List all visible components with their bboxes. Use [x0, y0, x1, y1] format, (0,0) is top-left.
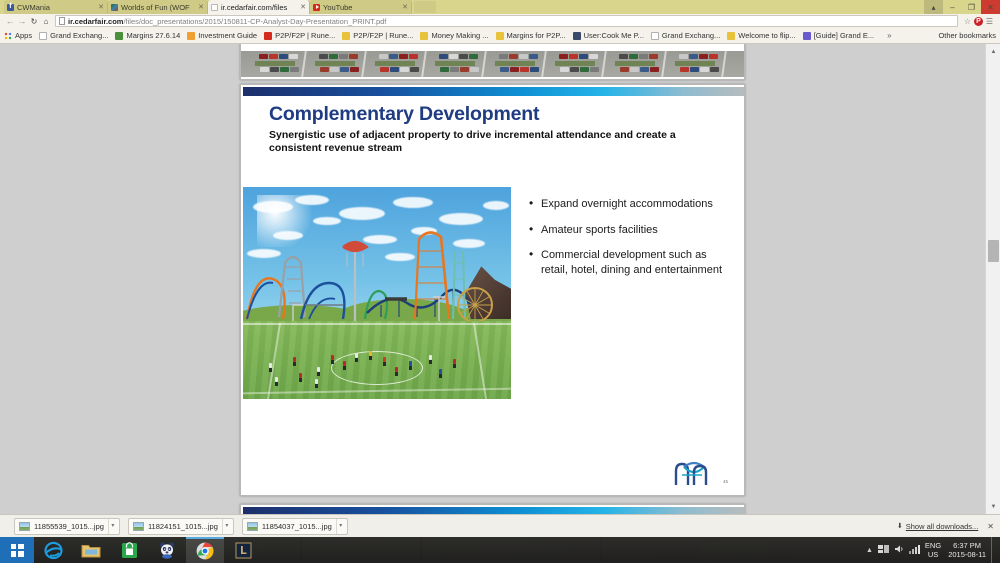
- close-downloads-bar-icon[interactable]: ✕: [987, 522, 994, 531]
- yellow-smiley-icon: [342, 32, 350, 40]
- bookmark-label: Money Making ...: [431, 31, 488, 40]
- bookmark-grand-exchange-2[interactable]: Grand Exchang...: [651, 31, 720, 40]
- yellow-smiley-icon: [727, 32, 735, 40]
- close-button[interactable]: ✕: [981, 0, 1000, 14]
- tray-expand-icon[interactable]: ▲: [866, 547, 873, 554]
- vertical-scrollbar[interactable]: ▲ ▼: [985, 44, 1000, 514]
- pdf-current-page: Complementary Development Synergistic us…: [240, 84, 745, 496]
- downloads-bar: 11855539_1015...jpg ▾ 11824151_1015...jp…: [0, 514, 1000, 537]
- other-bookmarks-button[interactable]: Other bookmarks: [938, 31, 996, 40]
- bookmark-investment-guide[interactable]: Investment Guide: [187, 31, 257, 40]
- bookmark-welcome-to-flip[interactable]: Welcome to flip...: [727, 31, 795, 40]
- tab-close-icon[interactable]: ✕: [300, 3, 306, 11]
- dark-badge-icon: [573, 32, 581, 40]
- reload-icon[interactable]: ↻: [28, 17, 40, 26]
- bookmark-label: [Guide] Grand E...: [814, 31, 874, 40]
- chrome-browser-window: CWMania ✕ Worlds of Fun (WOF ✕ ir.cedarf…: [0, 0, 1000, 537]
- tab-youtube[interactable]: YouTube ✕: [310, 0, 412, 14]
- bookmark-apps[interactable]: Apps: [4, 31, 32, 40]
- pdf-previous-page: [240, 44, 745, 80]
- clock[interactable]: 6:37 PM 2015-08-11: [948, 541, 986, 559]
- download-filename: 11854037_1015...jpg: [262, 522, 332, 531]
- list-item: Amateur sports facilities: [527, 223, 732, 238]
- chevron-down-icon[interactable]: ▾: [108, 519, 117, 534]
- tab-strip: CWMania ✕ Worlds of Fun (WOF ✕ ir.cedarf…: [0, 0, 1000, 14]
- language-line-1: ENG: [925, 541, 941, 550]
- purple-pen-icon: [803, 32, 811, 40]
- hamburger-menu-icon[interactable]: ☰: [983, 17, 996, 26]
- bookmarks-bar: Apps Grand Exchang... Margins 27.6.14 In…: [0, 28, 1000, 44]
- page-icon: [59, 17, 65, 25]
- downloads-bar-actions: ⬇ Show all downloads... ✕: [897, 522, 994, 531]
- bookmark-grand-exchange-1[interactable]: Grand Exchang...: [39, 31, 108, 40]
- bookmark-label: Margins 27.6.14: [126, 31, 180, 40]
- tab-close-icon[interactable]: ✕: [198, 3, 204, 11]
- show-all-downloads-link[interactable]: Show all downloads...: [906, 522, 979, 531]
- green-note-icon: [115, 32, 123, 40]
- forward-arrow-icon[interactable]: →: [16, 16, 28, 26]
- league-of-legends-icon[interactable]: [224, 537, 262, 563]
- tab-close-icon[interactable]: ✕: [98, 3, 104, 11]
- amusement-park-rendering-image: [243, 187, 511, 399]
- window-controls: ▴ – ❐ ✕: [924, 0, 1000, 14]
- image-thumbnail-icon: [19, 522, 30, 531]
- clock-date: 2015-08-11: [948, 550, 986, 559]
- download-filename: 11855539_1015...jpg: [34, 522, 104, 531]
- download-item[interactable]: 11854037_1015...jpg ▾: [242, 518, 348, 535]
- scroll-up-icon[interactable]: ▲: [986, 44, 1000, 59]
- aerial-parking-lot-photo: [241, 51, 744, 77]
- pdf-viewer[interactable]: Complementary Development Synergistic us…: [0, 44, 1000, 514]
- store-icon[interactable]: [110, 537, 148, 563]
- bookmark-label: Margins for P2P...: [507, 31, 566, 40]
- image-thumbnail-icon: [247, 522, 258, 531]
- bookmark-money-making[interactable]: Money Making ...: [420, 31, 488, 40]
- tab-close-icon[interactable]: ✕: [402, 3, 408, 11]
- file-explorer-icon[interactable]: [72, 537, 110, 563]
- system-tray: ▲ ENG US 6:37 PM 2015-08-11: [866, 537, 996, 563]
- start-button[interactable]: [0, 537, 34, 563]
- bookmark-label: Welcome to flip...: [738, 31, 795, 40]
- bookmark-label: P2P/F2P | Rune...: [353, 31, 413, 40]
- bookmark-label: Grand Exchang...: [50, 31, 108, 40]
- other-bookmarks-label: Other bookmarks: [938, 31, 996, 40]
- list-item: Commercial development such as retail, h…: [527, 248, 732, 277]
- panda-app-icon[interactable]: [148, 537, 186, 563]
- tab-cwmania[interactable]: CWMania ✕: [4, 0, 108, 14]
- windows-logo-icon: [11, 544, 24, 557]
- page-title: Complementary Development: [269, 103, 539, 126]
- home-icon[interactable]: ⌂: [40, 17, 52, 26]
- internet-explorer-icon[interactable]: [34, 537, 72, 563]
- language-line-2: US: [928, 550, 938, 559]
- bookmark-label: Investment Guide: [198, 31, 257, 40]
- minimize-button[interactable]: –: [943, 0, 962, 14]
- bookmark-label: User:Cook Me P...: [584, 31, 644, 40]
- new-tab-button[interactable]: [414, 1, 436, 13]
- yellow-smiley-icon: [496, 32, 504, 40]
- chevron-down-icon[interactable]: ▾: [222, 519, 231, 534]
- volume-icon[interactable]: [894, 544, 904, 556]
- apps-grid-icon: [4, 32, 12, 40]
- star-icon[interactable]: ☆: [961, 17, 974, 26]
- bookmark-p2p-f2p-1[interactable]: P2P/F2P | Rune...: [264, 31, 335, 40]
- signal-icon[interactable]: [909, 544, 920, 556]
- slide-subtitle: Synergistic use of adjacent property to …: [269, 129, 689, 155]
- tab-cedarfair-pdf[interactable]: ir.cedarfair.com/files ✕: [208, 0, 310, 14]
- orange-smiley-icon: [187, 32, 195, 40]
- tab-worlds-of-fun[interactable]: Worlds of Fun (WOF ✕: [108, 0, 208, 14]
- worlds-of-fun-icon: [111, 4, 118, 11]
- page-icon: [39, 32, 47, 40]
- url-text: ir.cedarfair.com/files/doc_presentations…: [68, 17, 386, 26]
- language-indicator[interactable]: ENG US: [925, 541, 941, 559]
- address-bar[interactable]: ir.cedarfair.com/files/doc_presentations…: [55, 15, 958, 27]
- facebook-icon: [7, 4, 14, 11]
- bookmark-label: P2P/F2P | Rune...: [275, 31, 335, 40]
- scroll-down-icon[interactable]: ▼: [986, 499, 1000, 514]
- pinterest-icon[interactable]: P: [974, 17, 983, 26]
- tab-label: YouTube: [323, 3, 399, 12]
- tab-label: CWMania: [17, 3, 95, 12]
- red-square-icon: [264, 32, 272, 40]
- navigation-toolbar: ← → ↻ ⌂ ir.cedarfair.com/files/doc_prese…: [0, 14, 1000, 28]
- bookmark-margins-27614[interactable]: Margins 27.6.14: [115, 31, 180, 40]
- bookmark-label: Grand Exchang...: [662, 31, 720, 40]
- bookmark-margins-for-p2p[interactable]: Margins for P2P...: [496, 31, 566, 40]
- slide-header-gradient-bar: [243, 507, 744, 514]
- bookmarks-overflow-button[interactable]: »: [887, 31, 891, 40]
- tab-label: ir.cedarfair.com/files: [221, 3, 297, 12]
- yellow-smiley-icon: [420, 32, 428, 40]
- youtube-icon: [313, 4, 320, 11]
- user-profile-button[interactable]: ▴: [924, 0, 943, 14]
- scrollbar-thumb[interactable]: [988, 240, 999, 262]
- bookmark-p2p-f2p-2[interactable]: P2P/F2P | Rune...: [342, 31, 413, 40]
- list-item: Expand overnight accommodations: [527, 197, 732, 212]
- clock-time: 6:37 PM: [953, 541, 981, 550]
- bookmark-user-cook-me-p[interactable]: User:Cook Me P...: [573, 31, 644, 40]
- tab-label: Worlds of Fun (WOF: [121, 3, 195, 12]
- image-thumbnail-icon: [133, 522, 144, 531]
- windows-taskbar: ▲ ENG US 6:37 PM 2015-08-11: [0, 537, 1000, 563]
- back-arrow-icon[interactable]: ←: [4, 16, 16, 26]
- cedar-fair-logo: [672, 461, 712, 487]
- document-icon: [211, 4, 218, 11]
- show-desktop-button[interactable]: [991, 537, 996, 563]
- network-icon[interactable]: [878, 544, 889, 556]
- chevron-down-icon[interactable]: ▾: [336, 519, 345, 534]
- bookmark-label: Apps: [15, 31, 32, 40]
- download-item[interactable]: 11855539_1015...jpg ▾: [14, 518, 120, 535]
- download-item[interactable]: 11824151_1015...jpg ▾: [128, 518, 234, 535]
- slide-header-gradient-bar: [243, 87, 744, 96]
- pdf-next-page: [240, 504, 745, 514]
- page-icon: [651, 32, 659, 40]
- slide-page-number: 45: [723, 479, 728, 484]
- google-chrome-icon[interactable]: [186, 537, 224, 563]
- screen: CWMania ✕ Worlds of Fun (WOF ✕ ir.cedarf…: [0, 0, 1000, 563]
- download-arrow-icon: ⬇: [897, 522, 903, 530]
- bookmark-guide-grand-e[interactable]: [Guide] Grand E...: [803, 31, 874, 40]
- maximize-button[interactable]: ❐: [962, 0, 981, 14]
- bullet-list: Expand overnight accommodations Amateur …: [527, 197, 732, 288]
- download-filename: 11824151_1015...jpg: [148, 522, 218, 531]
